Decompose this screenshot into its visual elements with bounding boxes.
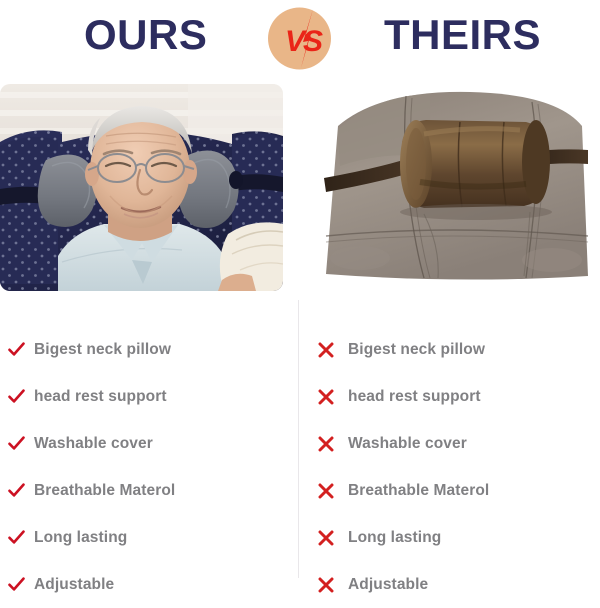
theirs-title: THEIRS [384, 11, 541, 59]
list-item: Washable cover [8, 420, 288, 467]
ours-product-image [0, 84, 283, 291]
feature-label: Adjustable [34, 576, 114, 594]
list-item: Adjustable [8, 561, 288, 608]
list-item: Bigest neck pillow [8, 326, 288, 373]
feature-label: head rest support [348, 388, 481, 406]
vs-badge: V S [268, 7, 331, 70]
feature-label: Adjustable [348, 576, 428, 594]
list-item: Washable cover [318, 420, 598, 467]
check-icon [8, 342, 34, 357]
list-item: Breathable Materol [318, 467, 598, 514]
list-item: head rest support [318, 373, 598, 420]
feature-label: Long lasting [348, 529, 441, 547]
list-item: Breathable Materol [8, 467, 288, 514]
cross-icon [318, 389, 344, 405]
check-icon [8, 483, 34, 498]
check-icon [8, 436, 34, 451]
feature-label: Washable cover [348, 435, 467, 453]
list-item: Bigest neck pillow [318, 326, 598, 373]
feature-label: Long lasting [34, 529, 127, 547]
cross-icon [318, 530, 344, 546]
ours-title: OURS [84, 11, 207, 59]
list-item: Long lasting [318, 514, 598, 561]
column-divider [298, 300, 299, 578]
ours-feature-list: Bigest neck pillow head rest support Was… [8, 326, 288, 608]
list-item: head rest support [8, 373, 288, 420]
feature-label: Bigest neck pillow [34, 341, 171, 359]
list-item: Long lasting [8, 514, 288, 561]
check-icon [8, 530, 34, 545]
theirs-product-image [320, 86, 592, 284]
feature-label: Breathable Materol [34, 482, 175, 500]
feature-label: Bigest neck pillow [348, 341, 485, 359]
theirs-feature-list: Bigest neck pillow head rest support Was… [318, 326, 598, 608]
feature-label: Washable cover [34, 435, 153, 453]
feature-label: Breathable Materol [348, 482, 489, 500]
list-item: Adjustable [318, 561, 598, 608]
check-icon [8, 389, 34, 404]
feature-label: head rest support [34, 388, 167, 406]
cross-icon [318, 342, 344, 358]
comparison-header: OURS V S THEIRS [0, 0, 600, 78]
cross-icon [318, 483, 344, 499]
cross-icon [318, 577, 344, 593]
vs-letter-s: S [303, 25, 323, 58]
cross-icon [318, 436, 344, 452]
